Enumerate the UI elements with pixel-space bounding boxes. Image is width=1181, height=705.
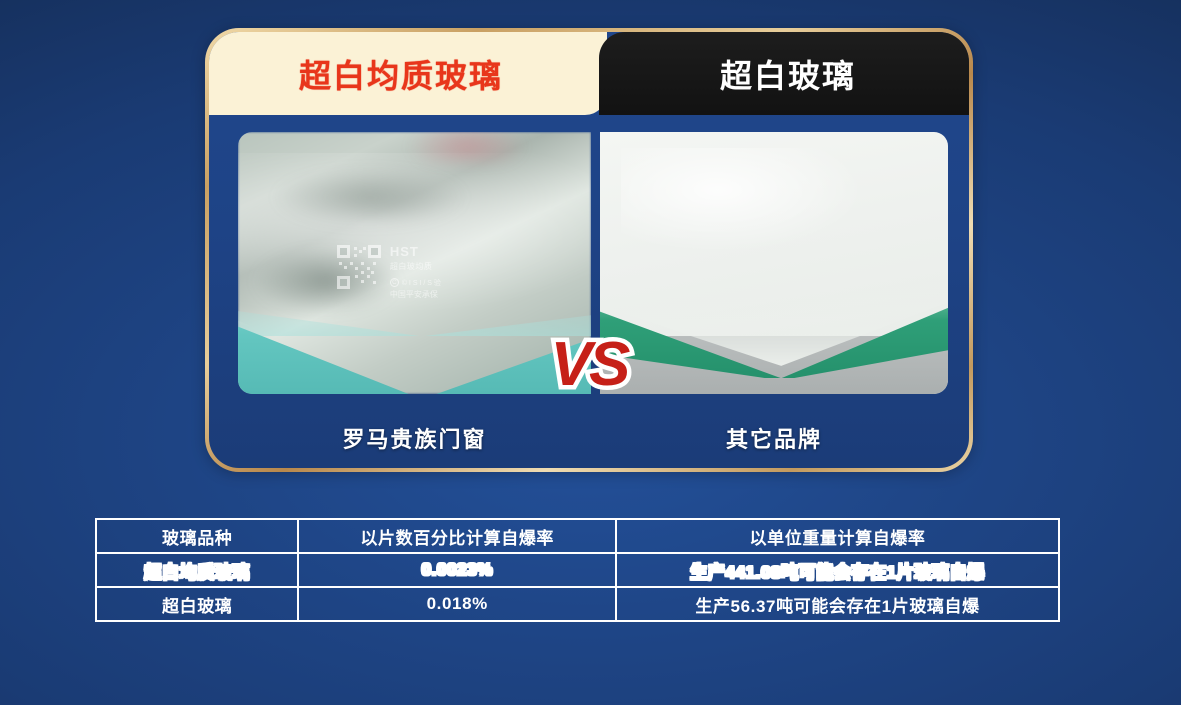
tab-bar: 超白均质玻璃 超白玻璃 bbox=[209, 32, 969, 115]
photo-left-shadow-2 bbox=[273, 169, 467, 227]
header-rate-by-unit-weight: 以单位重量计算自爆率 bbox=[616, 519, 1059, 553]
watermark: HST 超白玻均质 C © I S I / S 验 中国平安承保 bbox=[337, 245, 441, 300]
cell-rate-by-weight: 生产56.37吨可能会存在1片玻璃自爆 bbox=[616, 587, 1059, 621]
table-row: 超白玻璃 0.018% 生产56.37吨可能会存在1片玻璃自爆 bbox=[96, 587, 1059, 621]
cell-rate-by-piece: 0.018% bbox=[298, 587, 616, 621]
watermark-subtitle: 超白玻均质 bbox=[390, 261, 441, 272]
table-header-row: 玻璃品种 以片数百分比计算自爆率 以单位重量计算自爆率 bbox=[96, 519, 1059, 553]
watermark-brand: HST bbox=[390, 245, 441, 259]
cell-rate-by-weight: 生产441.08吨可能会存在1片玻璃自爆 bbox=[616, 553, 1059, 587]
tab-label: 超白玻璃 bbox=[720, 51, 856, 97]
qr-code-icon bbox=[337, 245, 381, 289]
caption-roma-noble-doors-windows: 罗马贵族门窗 bbox=[238, 418, 591, 458]
caption-other-brand: 其它品牌 bbox=[600, 418, 948, 458]
photo-other-brand-glass bbox=[600, 132, 948, 394]
photo-comparison: HST 超白玻均质 C © I S I / S 验 中国平安承保 bbox=[209, 115, 969, 405]
cell-glass-type: 超白玻璃 bbox=[96, 587, 298, 621]
tab-label: 超白均质玻璃 bbox=[299, 51, 503, 97]
self-explosion-rate-table: 玻璃品种 以片数百分比计算自爆率 以单位重量计算自爆率 超白均质玻璃 0.002… bbox=[95, 518, 1060, 622]
copyright-icon: C bbox=[390, 278, 399, 287]
cell-glass-type: 超白均质玻璃 bbox=[96, 553, 298, 587]
header-glass-type: 玻璃品种 bbox=[96, 519, 298, 553]
photo-left-pink-tint bbox=[407, 132, 527, 163]
tab-homogeneous-ultra-clear-glass[interactable]: 超白均质玻璃 bbox=[209, 32, 607, 115]
watermark-copyright-row: C © I S I / S 验 bbox=[390, 278, 441, 288]
tab-ultra-clear-glass[interactable]: 超白玻璃 bbox=[599, 32, 969, 115]
watermark-text: HST 超白玻均质 C © I S I / S 验 中国平安承保 bbox=[390, 245, 441, 300]
header-rate-by-piece-percentage: 以片数百分比计算自爆率 bbox=[298, 519, 616, 553]
photo-homogeneous-glass: HST 超白玻均质 C © I S I / S 验 中国平安承保 bbox=[238, 132, 591, 394]
photo-captions: 罗马贵族门窗 其它品牌 bbox=[209, 418, 969, 468]
comparison-card-inner: 超白均质玻璃 超白玻璃 bbox=[209, 32, 969, 468]
vs-badge: VS bbox=[551, 334, 628, 396]
table-row: 超白均质玻璃 0.0023% 生产441.08吨可能会存在1片玻璃自爆 bbox=[96, 553, 1059, 587]
photo-right-specular bbox=[621, 148, 865, 253]
cell-rate-by-piece: 0.0023% bbox=[298, 553, 616, 587]
watermark-insurer: 中国平安承保 bbox=[390, 289, 441, 300]
comparison-card: 超白均质玻璃 超白玻璃 bbox=[205, 28, 973, 472]
watermark-copyright: © I S I / S 验 bbox=[402, 278, 441, 288]
table-body: 玻璃品种 以片数百分比计算自爆率 以单位重量计算自爆率 超白均质玻璃 0.002… bbox=[96, 519, 1059, 621]
